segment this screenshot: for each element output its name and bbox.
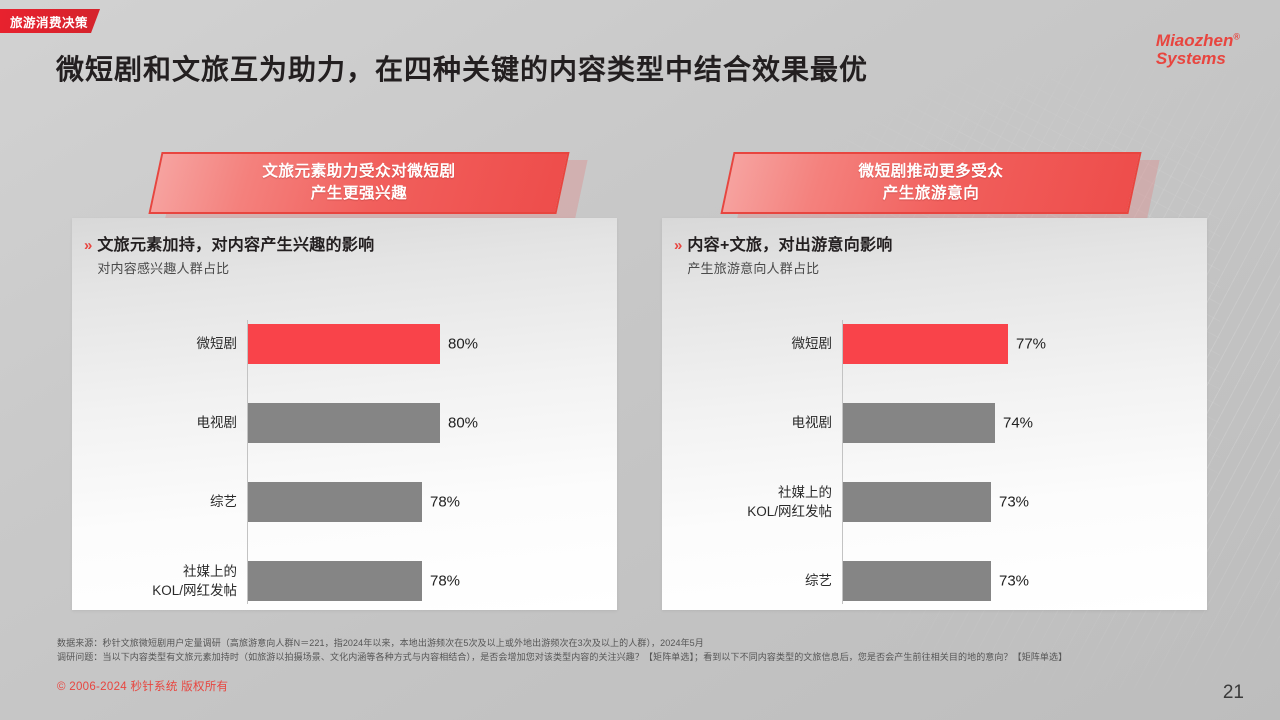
card-right-title: 内容+文旅，对出游意向影响 [687,236,892,257]
chart-right-row-2: 电视剧 74% [662,403,1207,443]
chart-right-label-3-line2: KOL/网红发帖 [692,502,832,521]
chart-right-bar-2 [843,403,995,443]
chart-left-label-3: 综艺 [97,492,247,511]
chart-right-label-3-line1: 社媒上的 [692,483,832,502]
chart-right-label-4: 综艺 [692,571,842,590]
page-number: 21 [1223,682,1244,704]
chart-left-row-4: 社媒上的 KOL/网红发帖 78% [72,561,617,601]
chart-right-value-4: 73% [999,573,1029,590]
card-right-header: » 内容+文旅，对出游意向影响 产生旅游意向人群占比 [674,236,893,276]
chart-right-bar-1 [843,324,1008,364]
chart-left-label-4: 社媒上的 KOL/网红发帖 [97,562,247,600]
page-title: 微短剧和文旅互为助力，在四种关键的内容类型中结合效果最优 [56,48,868,88]
chart-left-bar-2 [248,403,440,443]
chart-right-label-1: 微短剧 [692,334,842,353]
category-tag: 旅游消费决策 [0,9,100,33]
chart-right-label-3: 社媒上的 KOL/网红发帖 [692,483,842,521]
chart-left-value-3: 78% [430,494,460,511]
card-left-subtitle: 对内容感兴趣人群占比 [97,261,374,277]
chart-right-label-2-line1: 电视剧 [692,413,832,432]
chart-left-row-3: 综艺 78% [72,482,617,522]
chart-right: 微短剧 77% 电视剧 74% 社媒上的 KOL/网红发帖 [662,316,1207,604]
chart-left-label-4-line2: KOL/网红发帖 [97,581,237,600]
logo: Miaozhen® Systems [1156,32,1240,69]
chart-right-value-1: 77% [1016,336,1046,353]
card-right-subtitle: 产生旅游意向人群占比 [687,261,892,277]
chart-right-label-4-line1: 综艺 [692,571,832,590]
chart-left-row-2: 电视剧 80% [72,403,617,443]
copyright: © 2006-2024 秒针系统 版权所有 [57,678,228,694]
chart-left-label-3-line1: 综艺 [97,492,237,511]
card-left-header: » 文旅元素加持，对内容产生兴趣的影响 对内容感兴趣人群占比 [84,236,374,276]
chevron-double-right-icon: » [84,238,90,255]
card-left: » 文旅元素加持，对内容产生兴趣的影响 对内容感兴趣人群占比 微短剧 80% 电… [72,218,617,610]
logo-word: Miaozhen [1156,31,1233,50]
chart-right-bar-4 [843,561,991,601]
chart-left-bar-4 [248,561,422,601]
banner-left: 文旅元素助力受众对微短剧 产生更强兴趣 [155,152,575,222]
chart-right-value-2: 74% [1003,415,1033,432]
chart-left-value-2: 80% [448,415,478,432]
chart-left-value-1: 80% [448,336,478,353]
footnotes: 数据来源：秒针文旅微短剧用户定量调研（高旅游意向人群N＝221，指2024年以来… [57,637,1067,665]
logo-name: Miaozhen® [1156,32,1240,50]
logo-subname: Systems [1156,50,1240,68]
chart-right-row-3: 社媒上的 KOL/网红发帖 73% [662,482,1207,522]
chart-right-row-1: 微短剧 77% [662,324,1207,364]
chart-right-value-3: 73% [999,494,1029,511]
chart-left-label-2: 电视剧 [97,413,247,432]
banner-left-shape [148,152,569,214]
card-left-title: 文旅元素加持，对内容产生兴趣的影响 [97,236,374,257]
chart-left-row-1: 微短剧 80% [72,324,617,364]
banner-right: 微短剧推动更多受众 产生旅游意向 [727,152,1147,222]
banner-right-shape [720,152,1141,214]
chart-right-row-4: 综艺 73% [662,561,1207,601]
footnote-source: 数据来源：秒针文旅微短剧用户定量调研（高旅游意向人群N＝221，指2024年以来… [57,637,1067,651]
slide: 旅游消费决策 Miaozhen® Systems 微短剧和文旅互为助力，在四种关… [0,0,1280,720]
chart-left-label-2-line1: 电视剧 [97,413,237,432]
chart-right-bar-3 [843,482,991,522]
chart-left-label-1: 微短剧 [97,334,247,353]
chart-left-value-4: 78% [430,573,460,590]
chart-right-label-1-line1: 微短剧 [692,334,832,353]
chart-left-bar-1 [248,324,440,364]
chart-right-label-2: 电视剧 [692,413,842,432]
footnote-question: 调研问题：当以下内容类型有文旅元素加持时（如旅游以拍摄场景、文化内涵等各种方式与… [57,651,1067,665]
card-right: » 内容+文旅，对出游意向影响 产生旅游意向人群占比 微短剧 77% 电视剧 [662,218,1207,610]
chart-left: 微短剧 80% 电视剧 80% 综艺 78% [72,316,617,604]
chart-left-bar-3 [248,482,422,522]
logo-registered-icon: ® [1233,31,1240,41]
chevron-double-right-icon: » [674,238,680,255]
chart-left-label-4-line1: 社媒上的 [97,562,237,581]
chart-left-label-1-line1: 微短剧 [97,334,237,353]
